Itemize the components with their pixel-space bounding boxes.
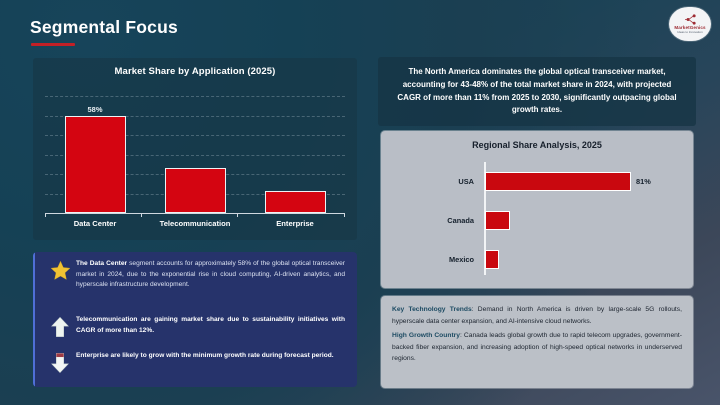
bar-item[interactable]: Mexico	[381, 246, 689, 272]
bar-item[interactable]	[153, 166, 237, 213]
axis-tick	[45, 213, 46, 217]
bar-value-label: 81%	[636, 177, 651, 186]
x-tick-label: Enterprise	[253, 219, 337, 228]
slide-canvas: Segmental Focus MarketGenics Ideas to In…	[0, 0, 720, 405]
list-item: Enterprise are likely to grow with the m…	[47, 351, 347, 374]
x-tick-label: Data Center	[53, 219, 137, 228]
list-item: Telecommunication are gaining market sha…	[47, 315, 347, 338]
bar-usa[interactable]	[485, 172, 631, 191]
bar-value-label: 58%	[87, 105, 102, 114]
network-nodes-icon	[683, 14, 698, 25]
x-axis-labels: Data Center Telecommunication Enterprise	[45, 219, 345, 228]
brand-logo: MarketGenics Ideas to Innovation	[669, 7, 711, 41]
arrow-up-icon	[47, 315, 73, 338]
insight-paragraph: Key Technology Trends: Demand in North A…	[392, 304, 682, 327]
star-icon	[47, 259, 73, 281]
bar-telecommunication[interactable]	[165, 168, 226, 213]
bar-group: 58%	[45, 96, 345, 213]
north-america-note-text: The North America dominates the global o…	[390, 66, 684, 118]
list-item-lead: Telecommunication	[76, 316, 137, 323]
axis-tick	[237, 213, 238, 217]
panel-accent-bar	[33, 252, 35, 387]
x-tick-label: Telecommunication	[153, 219, 237, 228]
list-item-text: The Data Center segment accounts for app…	[73, 259, 347, 291]
axis-tick	[344, 213, 345, 217]
bar-enterprise[interactable]	[265, 191, 326, 213]
y-tick-label: Canada	[381, 216, 480, 225]
y-tick-label: USA	[381, 177, 480, 186]
region-plot-area: USA 81% Canada Mexico	[381, 160, 693, 277]
bar-item[interactable]: USA 81%	[381, 168, 689, 194]
list-item-text: Enterprise are likely to grow with the m…	[73, 351, 347, 362]
insight-lead: High Growth Country	[392, 332, 460, 339]
axis-tick	[141, 213, 142, 217]
region-chart-title: Regional Share Analysis, 2025	[381, 140, 693, 150]
bar-item[interactable]: Canada	[381, 207, 689, 233]
north-america-note: The North America dominates the global o…	[378, 57, 696, 126]
list-item: The Data Center segment accounts for app…	[47, 259, 347, 291]
bar-item[interactable]: 58%	[53, 105, 137, 213]
x-axis-line	[45, 213, 345, 214]
market-share-chart-card: Market Share by Application (2025) 58%	[33, 58, 357, 240]
bar-item[interactable]	[253, 189, 337, 213]
insight-paragraph: High Growth Country: Canada leads global…	[392, 330, 682, 365]
chart-title: Market Share by Application (2025)	[33, 66, 357, 77]
bar-data-center[interactable]	[65, 116, 126, 213]
insight-lead: Key Technology Trends	[392, 306, 472, 313]
arrow-down-icon	[47, 351, 73, 374]
list-item-lead: The Data Center	[76, 260, 127, 267]
chart-plot-area: 58%	[45, 96, 345, 213]
page-title: Segmental Focus	[30, 17, 178, 38]
bar-mexico[interactable]	[485, 250, 499, 269]
bar-canada[interactable]	[485, 211, 510, 230]
regional-share-chart-card: Regional Share Analysis, 2025 USA 81% Ca…	[381, 131, 693, 288]
list-item-lead: Enterprise	[76, 352, 109, 359]
regional-insights-panel: Key Technology Trends: Demand in North A…	[381, 296, 693, 388]
segment-insights-panel: The Data Center segment accounts for app…	[33, 252, 357, 387]
logo-tagline: Ideas to Innovation	[677, 31, 702, 34]
title-underline	[31, 43, 75, 46]
y-tick-label: Mexico	[381, 255, 480, 264]
list-item-rest: are likely to grow with the minimum grow…	[109, 352, 334, 359]
list-item-text: Telecommunication are gaining market sha…	[73, 315, 347, 336]
